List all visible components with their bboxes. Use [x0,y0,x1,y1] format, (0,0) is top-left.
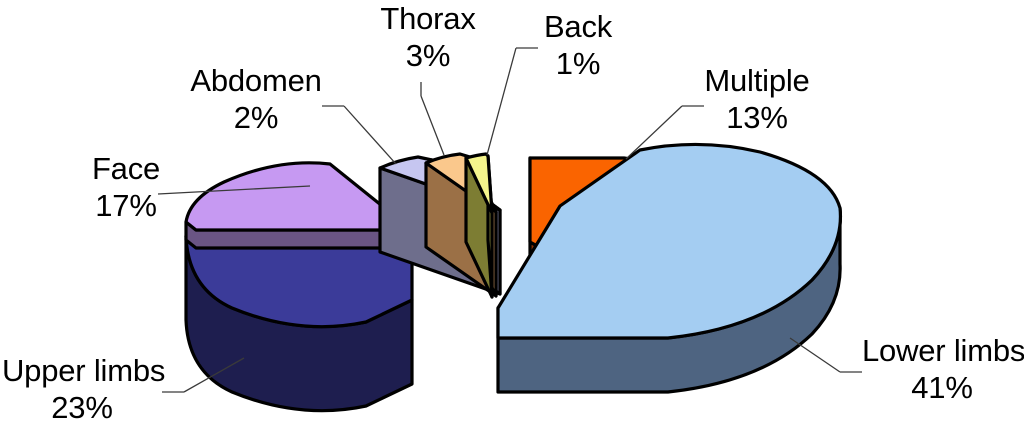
slice-face[interactable] [186,163,412,248]
label-thorax-name: Thorax [368,0,488,37]
label-abdomen-percent: 2% [176,99,336,136]
label-back-name: Back [518,8,638,45]
label-face-percent: 17% [78,187,174,224]
label-abdomen: Abdomen 2% [176,62,336,136]
label-upper-limbs: Upper limbs 23% [2,352,162,426]
label-face-name: Face [78,150,174,187]
label-face: Face 17% [78,150,174,224]
label-multiple-percent: 13% [692,99,822,136]
pie-chart-figure: Thorax 3% Back 1% Abdomen 2% Multiple 13… [0,0,1024,428]
label-upper-limbs-name: Upper limbs [2,352,162,389]
leader-line-thorax [421,82,444,155]
label-lower-limbs: Lower limbs 41% [862,332,1022,406]
label-multiple-name: Multiple [692,62,822,99]
label-abdomen-name: Abdomen [176,62,336,99]
label-multiple: Multiple 13% [692,62,822,136]
slice-face-top [186,163,412,230]
label-upper-limbs-percent: 23% [2,389,162,426]
label-thorax: Thorax 3% [368,0,488,74]
label-lower-limbs-name: Lower limbs [862,332,1022,369]
slice-upper-limbs[interactable] [186,236,412,411]
label-thorax-percent: 3% [368,37,488,74]
label-back-percent: 1% [518,45,638,82]
label-back: Back 1% [518,8,638,82]
label-lower-limbs-percent: 41% [862,369,1022,406]
